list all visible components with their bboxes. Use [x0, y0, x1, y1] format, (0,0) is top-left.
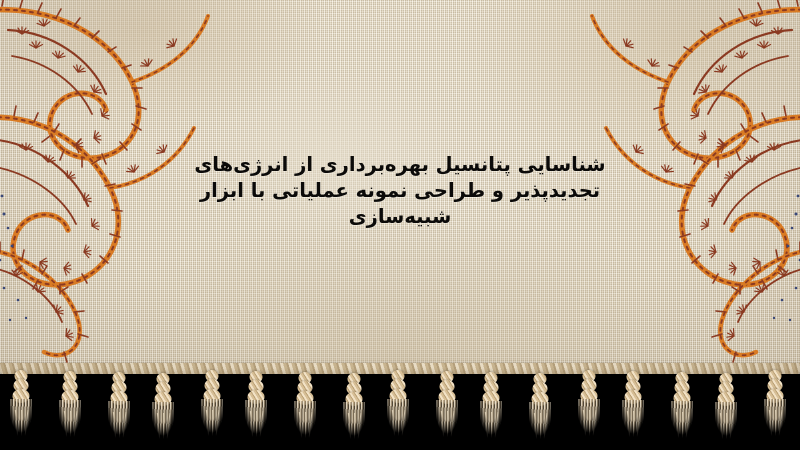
knotted-tassel-fringe — [0, 366, 800, 450]
fringe-tassel — [430, 367, 464, 447]
fringe-tassel — [288, 368, 322, 448]
fringe-tassel — [146, 369, 180, 449]
slide-canvas: شناسایی پتانسیل بهره‌برداری از انرژی‌های… — [0, 0, 800, 450]
fringe-tassel — [523, 369, 557, 449]
fringe-tassel — [709, 369, 743, 449]
title-line-1: شناسایی پتانسیل بهره‌برداری از انرژی‌های — [185, 152, 615, 178]
fringe-tassel — [665, 368, 699, 448]
fringe-tassel — [239, 367, 273, 447]
fringe-tassel — [195, 366, 229, 446]
slide-title: شناسایی پتانسیل بهره‌برداری از انرژی‌های… — [185, 152, 615, 230]
title-line-2: تجدیدپذیر و طراحی نمونه عملیاتی با ابزار — [185, 178, 615, 204]
fringe-tassel — [4, 366, 38, 446]
title-line-3: شبیه‌سازی — [185, 204, 615, 230]
fringe-tassel — [337, 369, 371, 449]
fringe-tassel — [572, 366, 606, 446]
fringe-tassel — [102, 368, 136, 448]
fringe-tassel — [758, 366, 792, 446]
fringe-tassel — [381, 366, 415, 446]
fringe-tassel — [53, 367, 87, 447]
fringe-tassel — [474, 368, 508, 448]
fringe-tassel — [616, 367, 650, 447]
